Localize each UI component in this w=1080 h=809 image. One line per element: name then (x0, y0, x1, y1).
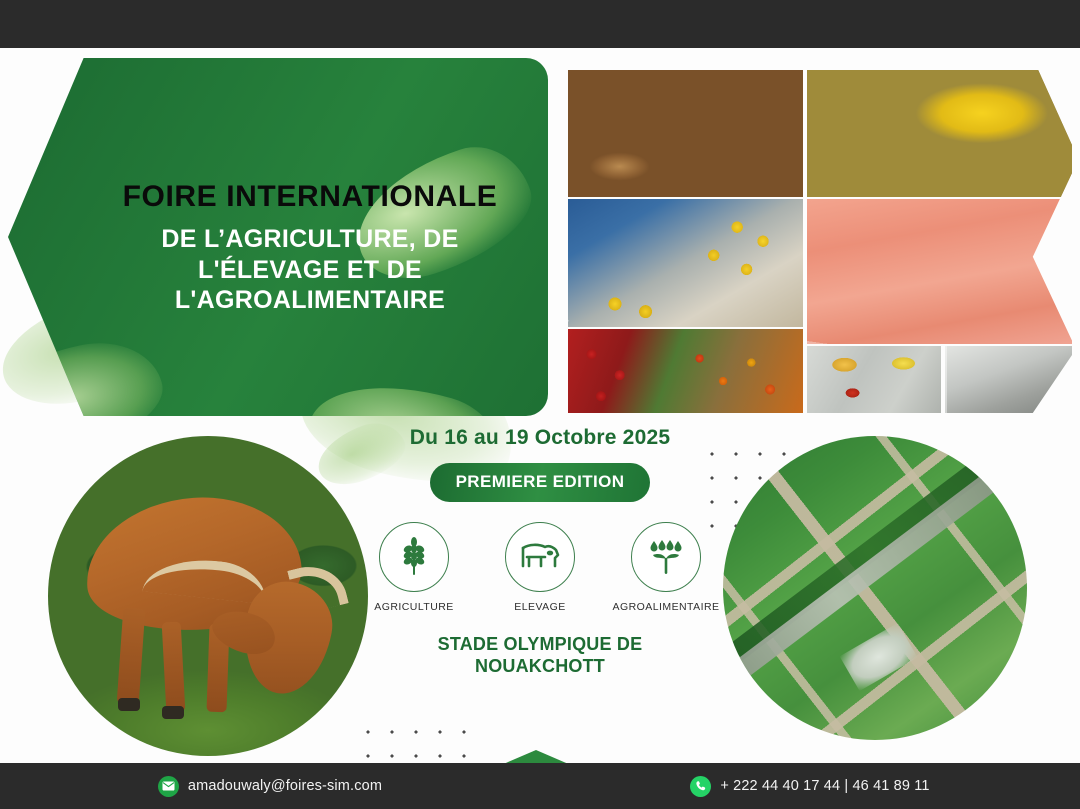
venue-line-1: STADE OLYMPIQUE DE (340, 634, 740, 656)
footer-phone-text[interactable]: + 222 44 40 17 44 | 46 41 89 11 (720, 778, 929, 794)
cow-icon (505, 522, 575, 592)
booth-green-backdrop (458, 750, 614, 763)
edition-badge: PREMIERE EDITION (430, 463, 651, 502)
page-subtitle: DE L’AGRICULTURE, DE L'ÉLEVAGE ET DE L'A… (100, 224, 520, 316)
venue-line-2: NOUAKCHOTT (340, 656, 740, 678)
event-date: Du 16 au 19 Octobre 2025 (340, 426, 740, 450)
hero-text-block: FOIRE INTERNATIONALE DE L’AGRICULTURE, D… (100, 180, 520, 316)
page-title: FOIRE INTERNATIONALE (100, 180, 520, 213)
photo-collage (536, 58, 1076, 413)
cow-leg-shape (117, 607, 146, 704)
phone-icon (690, 776, 711, 797)
category-agroalimentaire: AGROALIMENTAIRE (616, 522, 716, 613)
cow-hoof-shape (118, 698, 140, 711)
footer-email-text[interactable]: amadouwaly@foires-sim.com (188, 778, 382, 794)
envelope-icon (158, 776, 179, 797)
industrial-plant-photo (945, 346, 1072, 413)
citrus-sorting-photo (568, 199, 803, 327)
sprout-drops-icon (631, 522, 701, 592)
dairy-vats-photo (807, 70, 1072, 197)
cow-hoof-shape (162, 706, 184, 719)
category-label: AGRICULTURE (374, 601, 453, 613)
salmon-fillets-photo (807, 199, 1072, 344)
poster-stage: FOIRE INTERNATIONALE DE L’AGRICULTURE, D… (0, 48, 1080, 763)
bread-loaves-photo (568, 70, 803, 197)
food-trays-photo (807, 346, 941, 413)
category-label: ELEVAGE (514, 601, 565, 613)
category-elevage: ELEVAGE (490, 522, 590, 613)
vegetable-market-photo (568, 329, 803, 413)
grazing-cow-photo (48, 436, 368, 756)
pond-shape (839, 623, 917, 691)
footer-email-group[interactable]: amadouwaly@foires-sim.com (0, 776, 540, 797)
exhibition-booth-graphic: المعرض الدولي للزراعة والتربية SIM des F… (440, 710, 632, 763)
center-info-column: Du 16 au 19 Octobre 2025 PREMIERE EDITIO… (340, 426, 740, 678)
category-icons-row: AGRICULTURE ELEVAGE (340, 522, 740, 613)
top-dark-bar (0, 0, 1080, 48)
subtitle-line-1: DE L’AGRICULTURE, DE (100, 224, 520, 255)
subtitle-line-3: L'AGROALIMENTAIRE (100, 285, 520, 316)
footer-phone-group[interactable]: + 222 44 40 17 44 | 46 41 89 11 (540, 776, 1080, 797)
venue-name: STADE OLYMPIQUE DE NOUAKCHOTT (340, 634, 740, 678)
footer-contact-bar: amadouwaly@foires-sim.com + 222 44 40 17… (0, 763, 1080, 809)
wheat-icon (379, 522, 449, 592)
category-label: AGROALIMENTAIRE (613, 601, 720, 613)
subtitle-line-2: L'ÉLEVAGE ET DE (100, 255, 520, 286)
category-agriculture: AGRICULTURE (364, 522, 464, 613)
aerial-farmland-photo (723, 436, 1027, 740)
cow-leg-shape (162, 622, 186, 713)
